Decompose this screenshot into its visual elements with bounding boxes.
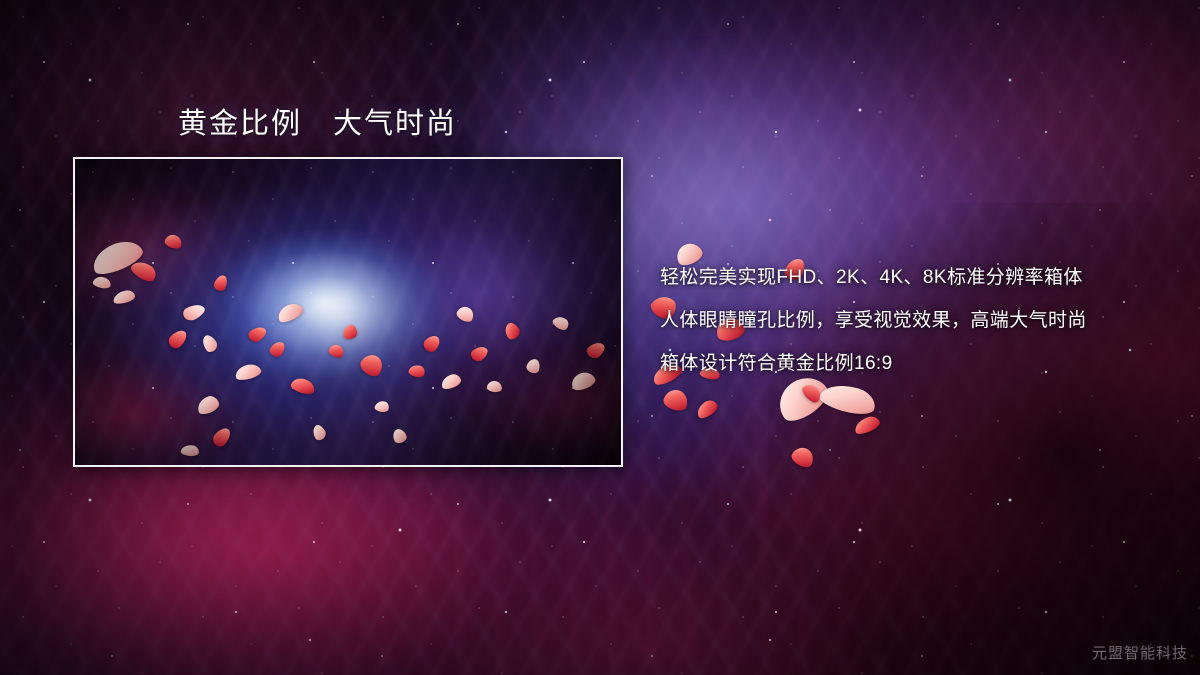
- description-line-3: 箱体设计符合黄金比例16:9: [660, 342, 1180, 385]
- watermark: 元盟智能科技: [1092, 642, 1188, 663]
- preview-image-frame[interactable]: [73, 157, 623, 467]
- description-text-block: 轻松完美实现FHD、2K、4K、8K标准分辨率箱体 人体眼睛瞳孔比例，享受视觉效…: [660, 256, 1180, 385]
- page-title: 黄金比例 大气时尚: [178, 100, 457, 142]
- description-line-1: 轻松完美实现FHD、2K、4K、8K标准分辨率箱体: [660, 256, 1180, 299]
- preview-image: [75, 159, 621, 465]
- description-line-2: 人体眼睛瞳孔比例，享受视觉效果，高端大气时尚: [660, 299, 1180, 342]
- slide-canvas: 黄金比例 大气时尚 轻松完美实现FHD、2K、4K、8K标准分辨率箱体 人体眼睛…: [0, 0, 1200, 675]
- preview-vignette: [75, 159, 621, 465]
